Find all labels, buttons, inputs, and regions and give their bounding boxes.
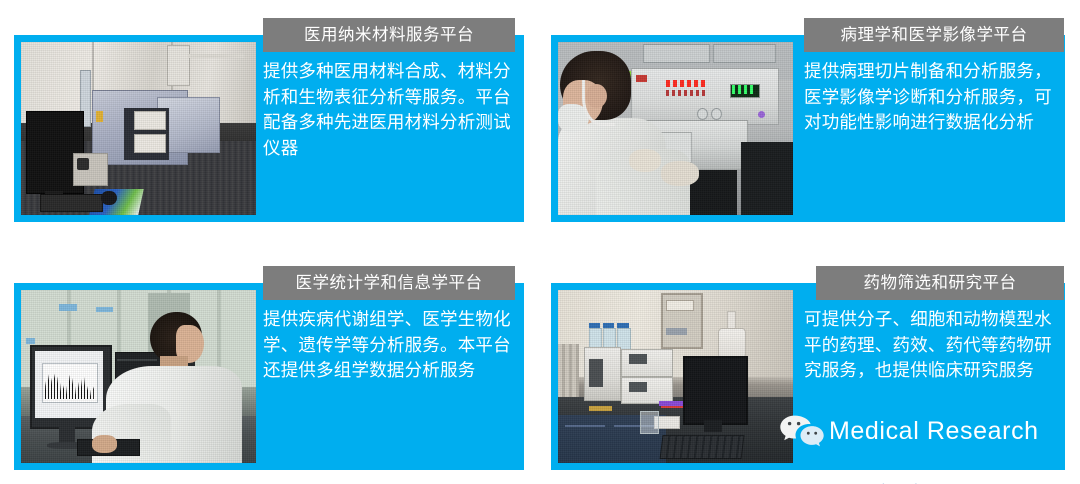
wechat-icon	[779, 414, 825, 448]
card-title: 医学统计学和信息学平台	[263, 266, 515, 300]
card-photo	[558, 290, 793, 463]
card-title: 药物筛选和研究平台	[816, 266, 1064, 300]
card-body-text: 提供疾病代谢组学、医学生物化学、遗传学等分析服务。本平台还提供多组学数据分析服务	[263, 307, 521, 384]
card-body-text: 提供病理切片制备和分析服务，医学影像学诊断和分析服务，可对功能性影响进行数据化分…	[804, 59, 1066, 136]
platform-card-pathology-medical-imaging[interactable]: 病理学和医学影像学平台 提供病理切片制备和分析服务，医学影像学诊断和分析服务，可…	[551, 18, 1065, 228]
brand-name: Medical Research	[829, 417, 1039, 446]
poster-canvas: 医用纳米材料服务平台 提供多种医用材料合成、材料分析和生物表征分析等服务。平台配…	[0, 0, 1080, 484]
platform-card-drug-screening-research[interactable]: 药物筛选和研究平台 可提供分子、细胞和动物模型水平的药理、药效、药代等药物研究服…	[551, 266, 1065, 476]
platform-card-medical-statistics-informatics[interactable]: 医学统计学和信息学平台 提供疾病代谢组学、医学生物化学、遗传学等分析服务。本平台…	[14, 266, 524, 476]
card-photo	[21, 290, 256, 463]
bottom-cutoff-text: — — · — · — — —	[840, 477, 1080, 484]
card-body-text: 可提供分子、细胞和动物模型水平的药理、药效、药代等药物研究服务，也提供临床研究服…	[804, 307, 1066, 384]
card-photo	[558, 42, 793, 215]
brand-lockup: Medical Research	[779, 414, 1039, 448]
card-body-text: 提供多种医用材料合成、材料分析和生物表征分析等服务。平台配备多种先进医用材料分析…	[263, 59, 521, 161]
platform-card-medical-nano-material[interactable]: 医用纳米材料服务平台 提供多种医用材料合成、材料分析和生物表征分析等服务。平台配…	[14, 18, 524, 228]
card-title: 病理学和医学影像学平台	[804, 18, 1064, 52]
card-title: 医用纳米材料服务平台	[263, 18, 515, 52]
card-photo	[21, 42, 256, 215]
